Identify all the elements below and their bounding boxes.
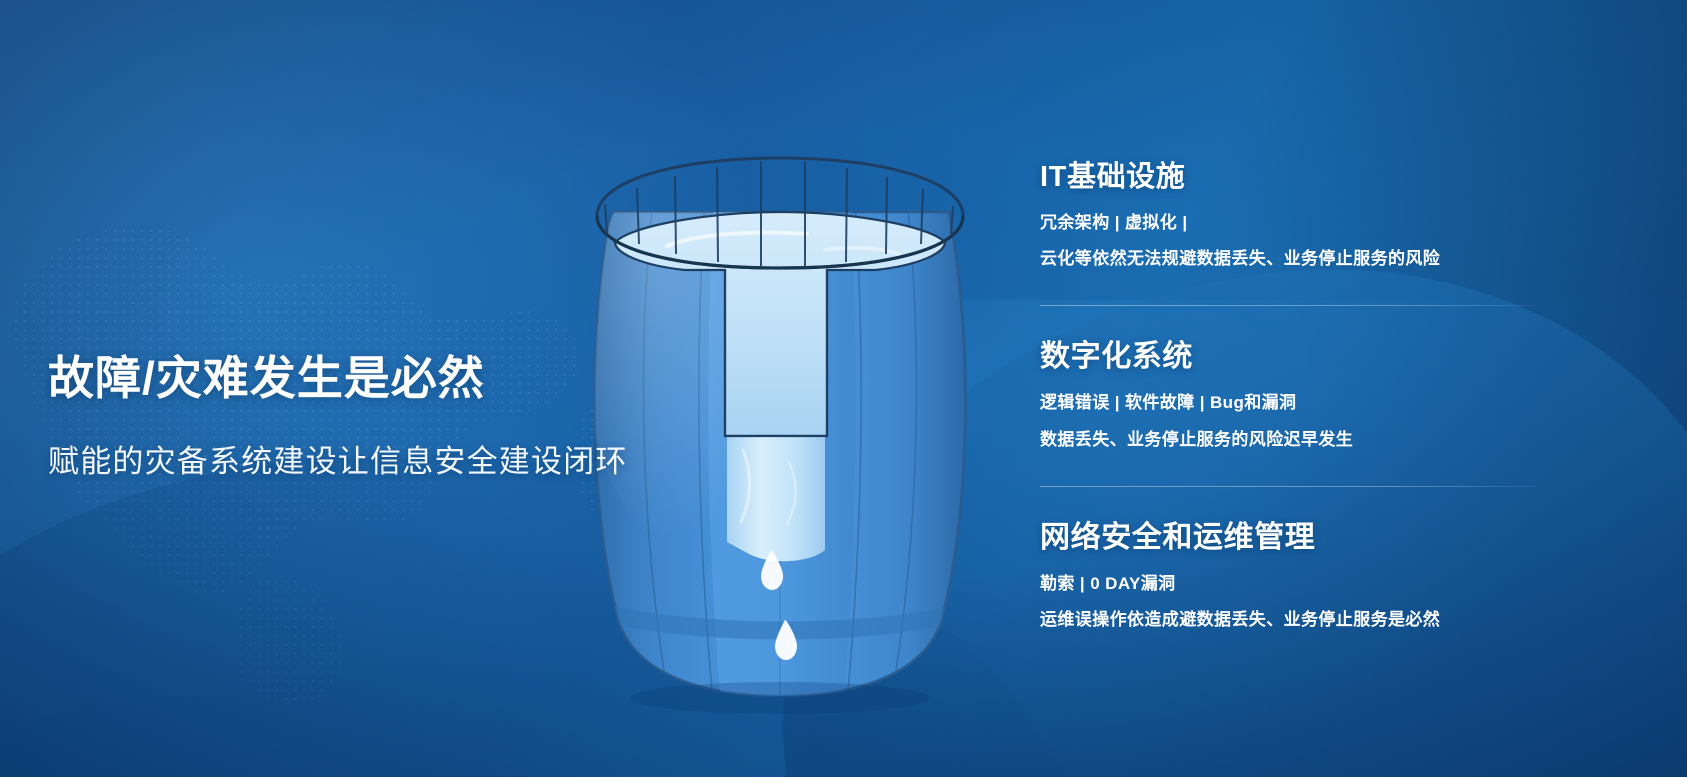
risk-description: 运维误操作依造成避数据丢失、业务停止服务是必然 <box>1040 609 1640 630</box>
headline-block: 故障/灾难发生是必然 赋能的灾备系统建设让信息安全建设闭环 <box>48 352 688 480</box>
risk-title: IT基础设施 <box>1040 160 1640 195</box>
headline-title: 故障/灾难发生是必然 <box>48 352 688 405</box>
risk-block-network-security-ops: 网络安全和运维管理 勒索 | 0 DAY漏洞 运维误操作依造成避数据丢失、业务停… <box>1040 486 1640 631</box>
risk-tags: 逻辑错误 | 软件故障 | Bug和漏洞 <box>1040 392 1640 413</box>
risk-description: 云化等依然无法规避数据丢失、业务停止服务的风险 <box>1040 248 1640 269</box>
risk-block-it-infrastructure: IT基础设施 冗余架构 | 虚拟化 | 云化等依然无法规避数据丢失、业务停止服务… <box>1040 160 1640 269</box>
barrel-shadow <box>630 682 930 714</box>
headline-subtitle: 赋能的灾备系统建设让信息安全建设闭环 <box>48 443 688 480</box>
risk-title: 网络安全和运维管理 <box>1040 520 1640 556</box>
section-divider <box>1040 486 1537 487</box>
hero-banner: 故障/灾难发生是必然 赋能的灾备系统建设让信息安全建设闭环 <box>0 0 1687 777</box>
risk-list: IT基础设施 冗余架构 | 虚拟化 | 云化等依然无法规避数据丢失、业务停止服务… <box>1040 160 1640 630</box>
risk-tags: 勒索 | 0 DAY漏洞 <box>1040 573 1640 594</box>
risk-description: 数据丢失、业务停止服务的风险迟早发生 <box>1040 429 1640 450</box>
barrel-water-column <box>727 436 825 561</box>
section-divider <box>1040 305 1537 306</box>
risk-tags: 冗余架构 | 虚拟化 | <box>1040 212 1640 233</box>
risk-title: 数字化系统 <box>1040 339 1640 375</box>
risk-block-digital-system: 数字化系统 逻辑错误 | 软件故障 | Bug和漏洞 数据丢失、业务停止服务的风… <box>1040 305 1640 450</box>
